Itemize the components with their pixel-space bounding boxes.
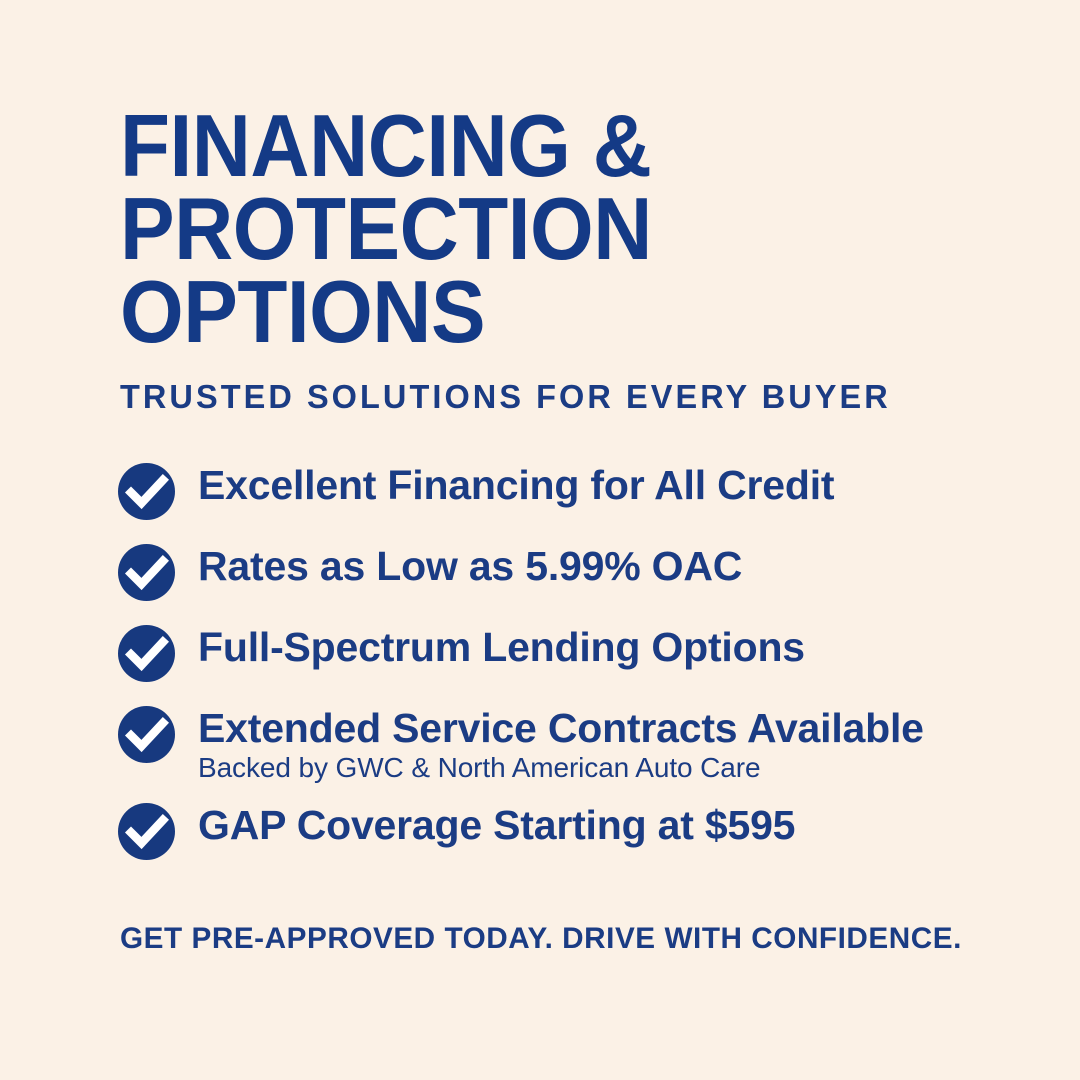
list-item-sublabel: Backed by GWC & North American Auto Care <box>198 752 760 783</box>
list-item-label: Rates as Low as 5.99% OAC <box>198 543 742 589</box>
list-item: Full-Spectrum Lending Options <box>118 624 1018 682</box>
list-item: Extended Service Contracts Available Bac… <box>118 705 1018 784</box>
list-item: Excellent Financing for All Credit <box>118 462 1018 520</box>
list-item-body: Extended Service Contracts Available Bac… <box>198 705 1018 784</box>
list-item: Rates as Low as 5.99% OAC <box>118 543 1018 601</box>
check-circle-icon <box>118 625 175 682</box>
check-circle-icon <box>118 706 175 763</box>
page-title: FINANCING & PROTECTION OPTIONS <box>120 104 920 353</box>
check-circle-icon <box>118 463 175 520</box>
list-item-label: Extended Service Contracts Available <box>198 705 924 751</box>
list-item-body: Rates as Low as 5.99% OAC <box>198 543 742 589</box>
list-item-label: GAP Coverage Starting at $595 <box>198 802 795 848</box>
list-item: GAP Coverage Starting at $595 <box>118 802 1018 860</box>
list-item-body: Excellent Financing for All Credit <box>198 462 834 508</box>
page-subtitle: TRUSTED SOLUTIONS FOR EVERY BUYER <box>120 378 891 416</box>
list-item-label: Full-Spectrum Lending Options <box>198 624 805 670</box>
call-to-action-text: GET PRE-APPROVED TODAY. DRIVE WITH CONFI… <box>120 922 962 956</box>
benefits-list: Excellent Financing for All Credit Rates… <box>118 462 1018 883</box>
check-circle-icon <box>118 803 175 860</box>
list-item-label: Excellent Financing for All Credit <box>198 462 834 508</box>
list-item-body: GAP Coverage Starting at $595 <box>198 802 795 848</box>
promo-poster: FINANCING & PROTECTION OPTIONS TRUSTED S… <box>0 0 1080 1080</box>
check-circle-icon <box>118 544 175 601</box>
list-item-body: Full-Spectrum Lending Options <box>198 624 805 670</box>
